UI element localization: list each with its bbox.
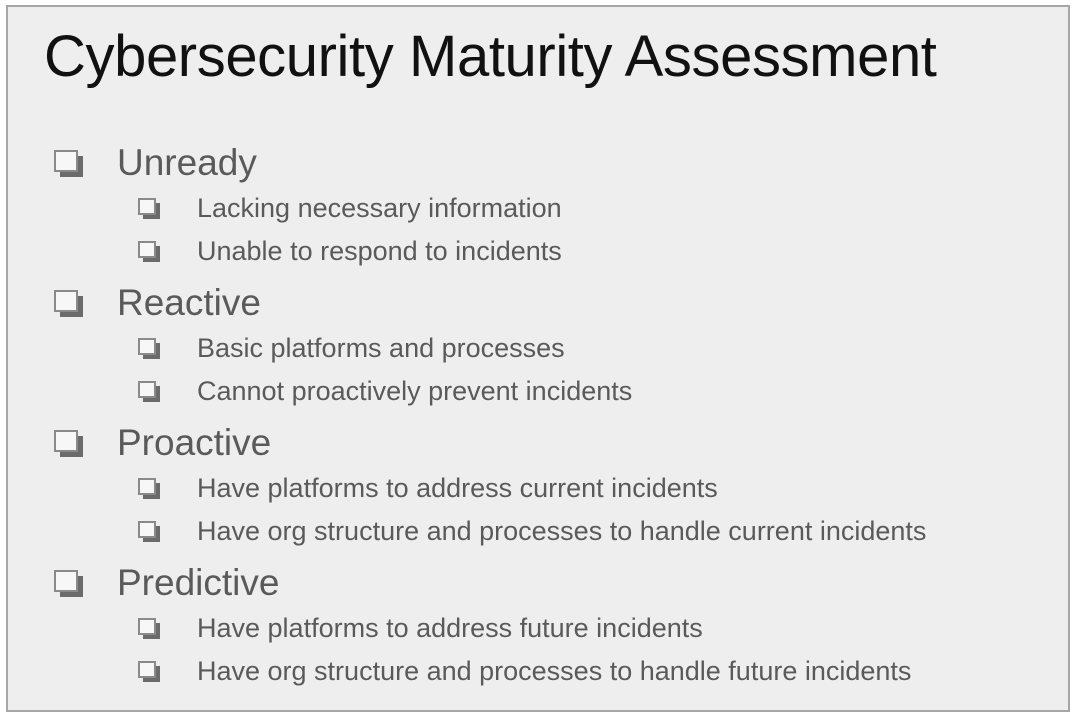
maturity-level-label: Predictive: [117, 559, 279, 607]
shadowed-box-bullet-icon: [138, 338, 197, 359]
shadowed-box-bullet-icon: [138, 241, 197, 262]
list-item[interactable]: Have org structure and processes to hand…: [8, 650, 1068, 693]
slide-canvas: Cybersecurity Maturity Assessment Unread…: [6, 5, 1070, 712]
list-item[interactable]: Unable to respond to incidents: [8, 230, 1068, 273]
maturity-level-proactive[interactable]: Proactive: [8, 419, 1068, 467]
list-item-label: Have org structure and processes to hand…: [197, 510, 926, 553]
list-item[interactable]: Lacking necessary information: [8, 187, 1068, 230]
list-item[interactable]: Have platforms to address current incide…: [8, 467, 1068, 510]
shadowed-box-bullet-icon: [138, 661, 197, 682]
maturity-group: Predictive Have platforms to address fut…: [8, 559, 1068, 693]
list-item[interactable]: Have org structure and processes to hand…: [8, 510, 1068, 553]
shadowed-box-bullet-icon: [138, 521, 197, 542]
maturity-level-label: Proactive: [117, 419, 271, 467]
maturity-level-predictive[interactable]: Predictive: [8, 559, 1068, 607]
maturity-group: Proactive Have platforms to address curr…: [8, 419, 1068, 553]
list-item-label: Have platforms to address future inciden…: [197, 607, 703, 650]
shadowed-box-bullet-icon: [54, 570, 117, 597]
maturity-level-unready[interactable]: Unready: [8, 139, 1068, 187]
maturity-level-label: Unready: [117, 139, 257, 187]
shadowed-box-bullet-icon: [54, 290, 117, 317]
maturity-outline: Unready Lacking necessary information Un…: [8, 139, 1068, 693]
list-item-label: Unable to respond to incidents: [197, 230, 562, 273]
list-item-label: Lacking necessary information: [197, 187, 562, 230]
shadowed-box-bullet-icon: [138, 478, 197, 499]
maturity-group: Reactive Basic platforms and processes C…: [8, 279, 1068, 413]
shadowed-box-bullet-icon: [138, 381, 197, 402]
list-item[interactable]: Have platforms to address future inciden…: [8, 607, 1068, 650]
shadowed-box-bullet-icon: [54, 150, 117, 177]
list-item[interactable]: Basic platforms and processes: [8, 327, 1068, 370]
shadowed-box-bullet-icon: [54, 430, 117, 457]
list-item-label: Have org structure and processes to hand…: [197, 650, 911, 693]
maturity-level-label: Reactive: [117, 279, 261, 327]
shadowed-box-bullet-icon: [138, 618, 197, 639]
shadowed-box-bullet-icon: [138, 198, 197, 219]
list-item[interactable]: Cannot proactively prevent incidents: [8, 370, 1068, 413]
list-item-label: Have platforms to address current incide…: [197, 467, 718, 510]
page-title: Cybersecurity Maturity Assessment: [44, 21, 1024, 93]
maturity-level-reactive[interactable]: Reactive: [8, 279, 1068, 327]
list-item-label: Cannot proactively prevent incidents: [197, 370, 632, 413]
maturity-group: Unready Lacking necessary information Un…: [8, 139, 1068, 273]
list-item-label: Basic platforms and processes: [197, 327, 565, 370]
